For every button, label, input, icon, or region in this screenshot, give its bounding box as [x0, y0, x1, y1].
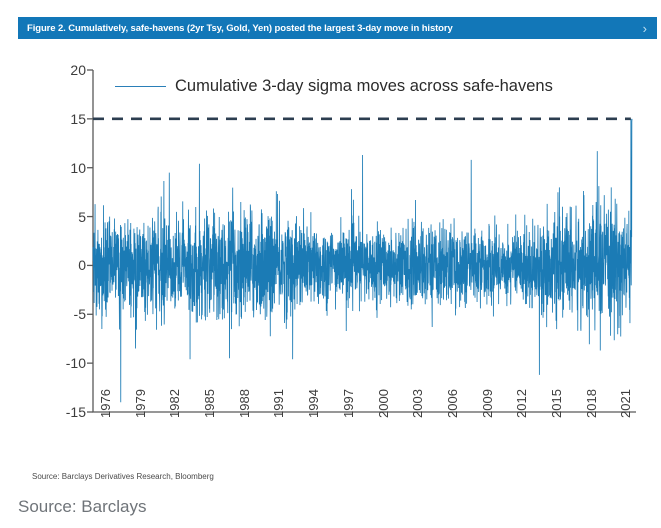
- bottom-source-caption: Source: Barclays: [18, 497, 147, 517]
- y-tick-label: -10: [46, 355, 86, 371]
- y-axis-tick-labels: 20151050-5-10-15: [31, 39, 86, 489]
- y-tick-label: -5: [46, 306, 86, 322]
- legend-line-swatch: [115, 86, 166, 87]
- chevron-right-icon[interactable]: ›: [637, 22, 647, 35]
- figure-title-text: Figure 2. Cumulatively, safe-havens (2yr…: [27, 23, 637, 34]
- y-tick-label: -15: [46, 404, 86, 420]
- chart-card: 20151050-5-10-15 19761979198219851988199…: [18, 39, 657, 489]
- y-tick-label: 0: [46, 257, 86, 273]
- chart-legend: Cumulative 3-day sigma moves across safe…: [115, 77, 553, 96]
- series-group: [93, 119, 632, 402]
- chart-source-note: Source: Barclays Derivatives Research, B…: [32, 472, 214, 481]
- y-tick-label: 15: [46, 111, 86, 127]
- y-tick-label: 5: [46, 209, 86, 225]
- y-tick-label: 10: [46, 160, 86, 176]
- plot-area: [18, 39, 657, 489]
- legend-label: Cumulative 3-day sigma moves across safe…: [175, 77, 553, 96]
- figure-title-banner: Figure 2. Cumulatively, safe-havens (2yr…: [18, 17, 657, 39]
- y-tick-label: 20: [46, 62, 86, 78]
- chart-canvas: [18, 39, 657, 489]
